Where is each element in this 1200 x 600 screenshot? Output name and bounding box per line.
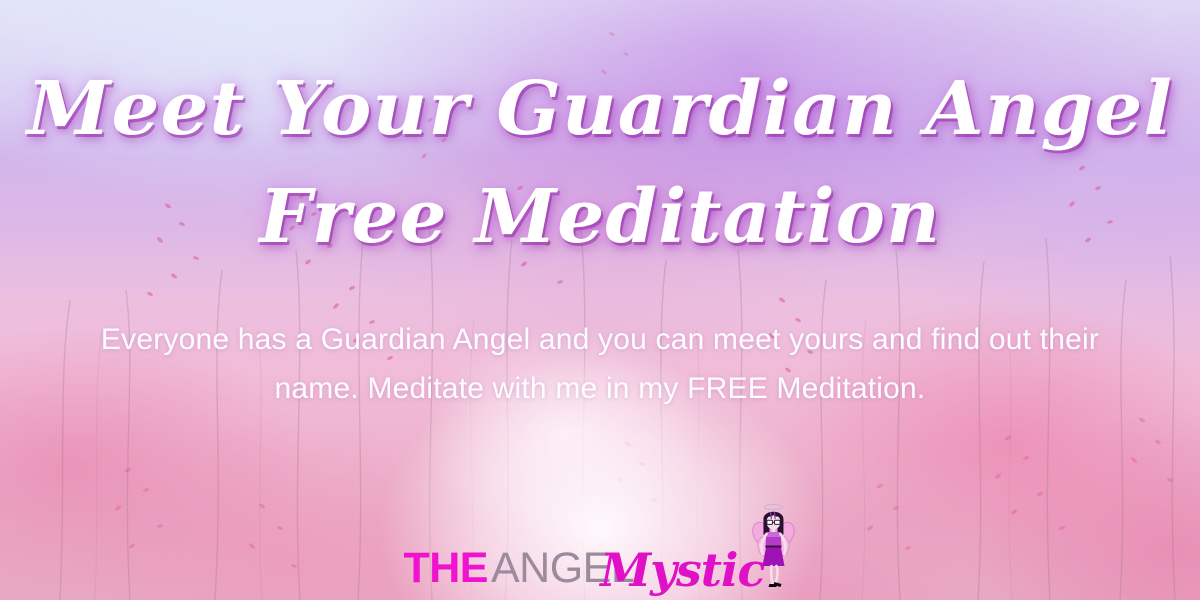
logo-wordmark: THE ANGEL Mystic [403, 543, 764, 590]
fairy-icon [751, 500, 797, 592]
headline-line-2: Free Meditation [0, 180, 1200, 254]
the-angel-mystic-logo[interactable]: THE ANGEL Mystic [403, 498, 796, 590]
banner-subtext: Everyone has a Guardian Angel and you ca… [80, 316, 1120, 413]
headline-line-1: Meet Your Guardian Angel [0, 72, 1200, 146]
promo-banner: Meet Your Guardian Angel Free Meditation… [0, 0, 1200, 600]
logo-text-mystic: Mystic [600, 547, 764, 593]
logo-text-the: THE [403, 547, 488, 590]
